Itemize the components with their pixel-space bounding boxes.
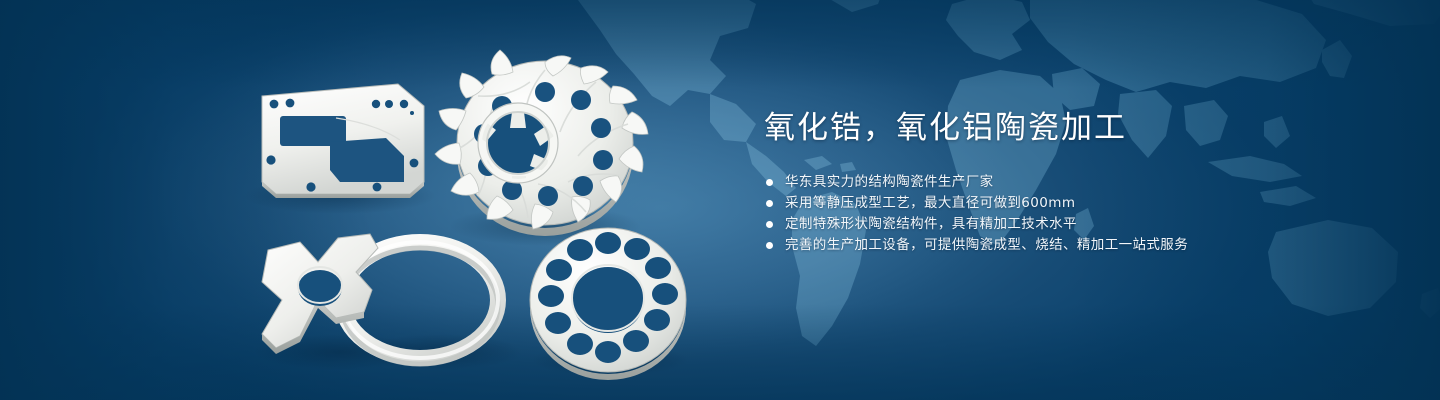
bullet-dot-icon [766, 200, 773, 207]
ceramic-products-image [0, 0, 740, 400]
ceramic-processing-banner: 氧化锆，氧化铝陶瓷加工 华东具实力的结构陶瓷件生产厂家 采用等静压成型工艺，最大… [0, 0, 1440, 400]
bullet-dot-icon [766, 242, 773, 249]
ceramic-perforated-disc-shape [530, 228, 686, 380]
feature-text-1: 华东具实力的结构陶瓷件生产厂家 [785, 172, 994, 193]
bullet-dot-icon [766, 179, 773, 186]
feature-item-4: 完善的生产加工设备，可提供陶瓷成型、烧结、精加工一站式服务 [764, 235, 1384, 256]
feature-text-2: 采用等静压成型工艺，最大直径可做到600mm [785, 193, 1075, 214]
banner-feature-list: 华东具实力的结构陶瓷件生产厂家 采用等静压成型工艺，最大直径可做到600mm 定… [764, 172, 1384, 256]
feature-text-3: 定制特殊形状陶瓷结构件，具有精加工技术水平 [785, 214, 1077, 235]
banner-headline: 氧化锆，氧化铝陶瓷加工 [764, 106, 1384, 150]
feature-item-3: 定制特殊形状陶瓷结构件，具有精加工技术水平 [764, 214, 1384, 235]
ceramic-impeller-shape [435, 50, 648, 236]
feature-text-4: 完善的生产加工设备，可提供陶瓷成型、烧结、精加工一站式服务 [785, 235, 1188, 256]
ceramic-plate-shape [262, 84, 424, 198]
bullet-dot-icon [766, 221, 773, 228]
feature-item-1: 华东具实力的结构陶瓷件生产厂家 [764, 172, 1384, 193]
banner-copy: 氧化锆，氧化铝陶瓷加工 华东具实力的结构陶瓷件生产厂家 采用等静压成型工艺，最大… [764, 106, 1384, 256]
feature-item-2: 采用等静压成型工艺，最大直径可做到600mm [764, 193, 1384, 214]
